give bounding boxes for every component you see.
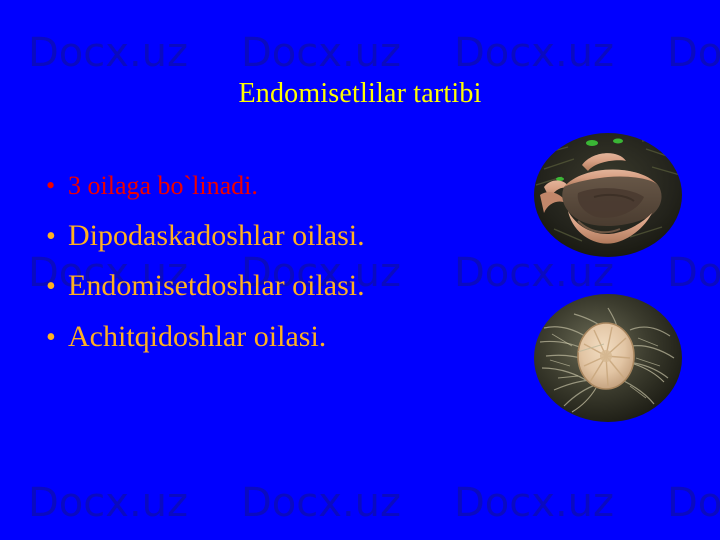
list-item-label: Dipodaskadoshlar oilasi. [68, 220, 365, 252]
list-item: • Dipodaskadoshlar oilasi. [46, 220, 516, 252]
watermark-text: Docx.uz [28, 480, 241, 526]
fungal-spore-body-photo [534, 294, 682, 422]
slide-title: Endomisetlilar tartibi [0, 78, 720, 110]
watermark-text: Docx.uz [241, 30, 454, 76]
list-item: • Achitqidoshlar oilasi. [46, 321, 516, 353]
bullet-list: • 3 oilaga bo`linadi. • Dipodaskadoshlar… [46, 172, 516, 353]
bracket-fungus-photo [534, 133, 682, 257]
bullet-point-icon: • [46, 324, 68, 352]
bullet-point-icon: • [46, 273, 68, 301]
list-item: • 3 oilaga bo`linadi. [46, 172, 516, 200]
list-item-label: Endomisetdoshlar oilasi. [68, 270, 365, 302]
watermark-text: Docx.uz [454, 30, 667, 76]
fungal-spore-body-illustration [534, 294, 682, 422]
watermark-text: Docx.uz [241, 480, 454, 526]
watermark-row: Docx.uzDocx.uzDocx.uzDocx.uz [28, 30, 720, 76]
list-item: • Endomisetdoshlar oilasi. [46, 270, 516, 302]
bullet-point-icon: • [46, 223, 68, 251]
bullet-point-icon: • [46, 173, 68, 199]
watermark-text: Docx.uz [667, 30, 720, 76]
watermark-row: Docx.uzDocx.uzDocx.uzDocx.uz [28, 480, 720, 526]
bracket-fungus-illustration [534, 133, 682, 257]
list-item-label: Achitqidoshlar oilasi. [68, 321, 326, 353]
watermark-text: Docx.uz [667, 480, 720, 526]
watermark-text: Docx.uz [667, 250, 720, 296]
list-item-label: 3 oilaga bo`linadi. [68, 172, 258, 200]
watermark-text: Docx.uz [28, 30, 241, 76]
watermark-text: Docx.uz [454, 480, 667, 526]
slide-canvas: Docx.uzDocx.uzDocx.uzDocx.uz Docx.uzDocx… [0, 0, 720, 540]
